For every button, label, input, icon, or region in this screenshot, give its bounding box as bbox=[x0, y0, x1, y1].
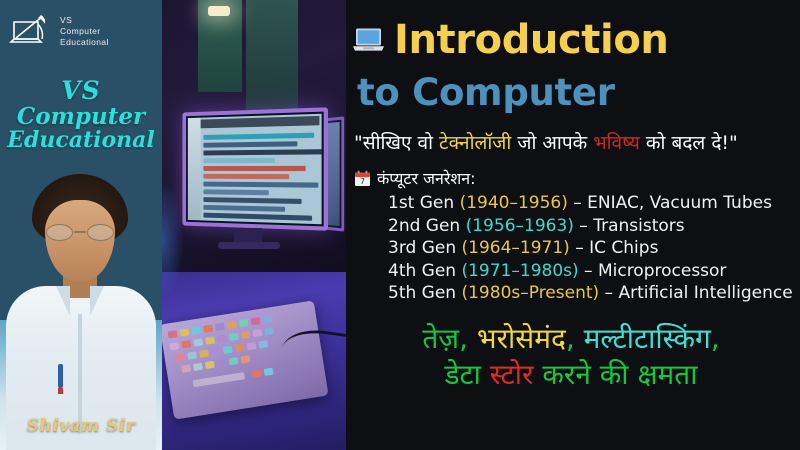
screen-row bbox=[203, 133, 314, 140]
tagline-highlight-technology: टेक्नोलॉजी bbox=[439, 132, 511, 154]
screen-row bbox=[203, 213, 312, 221]
generation-row: 1st Gen (1940–1956) – ENIAC, Vacuum Tube… bbox=[388, 192, 796, 215]
pocket-pen-icon bbox=[58, 364, 63, 388]
instructor-portrait bbox=[0, 168, 162, 450]
screen-row bbox=[203, 149, 321, 155]
screen-row bbox=[203, 205, 285, 212]
brand-script-wordmark: VS Computer Educational bbox=[0, 78, 162, 151]
laptop-outline-icon bbox=[8, 12, 54, 52]
brand-script-line3: Educational bbox=[0, 129, 162, 151]
generation-tech: ENIAC, Vacuum Tubes bbox=[587, 193, 772, 213]
screen-titlebar bbox=[201, 116, 320, 128]
generation-dash: – bbox=[570, 238, 589, 258]
generation-row: 3rd Gen (1964–1971) – IC Chips bbox=[388, 237, 796, 260]
glasses-bridge bbox=[74, 231, 86, 233]
generation-dash: – bbox=[568, 193, 587, 213]
tagline: "सीखिए वो टेक्नोलॉजी जो आपके भविष्य को ब… bbox=[354, 129, 796, 155]
photo-led-glow bbox=[162, 180, 184, 300]
generation-label: 4th Gen bbox=[388, 261, 461, 281]
screen-row bbox=[203, 182, 318, 188]
benefit-multitasking: मल्टीटास्किंग bbox=[584, 322, 711, 355]
benefit-data: डेटा bbox=[445, 358, 490, 391]
screen-row bbox=[203, 141, 297, 147]
generation-row: 4th Gen (1971–1980s) – Microprocessor bbox=[388, 260, 796, 283]
brand-logo-line1: VS bbox=[60, 15, 109, 26]
benefits-block: तेज़, भरोसेमंद, मल्टीटास्किंग, डेटा स्टो… bbox=[352, 321, 796, 393]
tagline-highlight-future: भविष्य bbox=[593, 132, 640, 154]
generation-label: 5th Gen bbox=[388, 283, 461, 303]
brand-script-line2: Computer bbox=[0, 105, 162, 128]
calendar-emoji-icon: 7 bbox=[354, 170, 371, 187]
generation-years: (1980s–Present) bbox=[461, 283, 599, 303]
pocket-pen-tip bbox=[58, 388, 63, 394]
generation-dash: – bbox=[599, 283, 618, 303]
generation-dash: – bbox=[579, 261, 598, 281]
brand-panel: VS Computer Educational VS Computer Educ… bbox=[0, 0, 162, 450]
slide-canvas: VS Computer Educational VS Computer Educ… bbox=[0, 0, 800, 450]
workstation-photo bbox=[162, 0, 346, 450]
brand-logo-line3: Educational bbox=[60, 37, 109, 48]
glasses-lens-right bbox=[87, 224, 114, 241]
glasses-lens-left bbox=[46, 224, 73, 241]
generation-years: (1971–1980s) bbox=[461, 261, 578, 281]
generation-row: 5th Gen (1980s–Present) – Artificial Int… bbox=[388, 282, 796, 305]
instructor-signature: Shivam Sir bbox=[0, 416, 162, 436]
portrait-collar-left bbox=[56, 286, 70, 316]
screen-row bbox=[203, 166, 305, 171]
benefit-store: स्टोर bbox=[490, 358, 534, 391]
benefit-comma-2: , bbox=[566, 322, 575, 355]
generation-tech: IC Chips bbox=[589, 238, 658, 258]
benefit-capacity: करने की क्षमता bbox=[533, 358, 697, 391]
generation-dash: – bbox=[574, 216, 593, 236]
monitor-icon bbox=[182, 107, 328, 230]
benefit-fast: तेज़ bbox=[422, 322, 459, 355]
generation-row: 2nd Gen (1956–1963) – Transistors bbox=[388, 215, 796, 238]
generation-tech: Artificial Intelligence bbox=[618, 283, 792, 303]
generation-years: (1940–1956) bbox=[460, 193, 568, 213]
generations-heading: कंप्यूटर जनरेशन: bbox=[377, 167, 476, 189]
tagline-part2: जो आपके bbox=[511, 132, 593, 154]
generation-years: (1956–1963) bbox=[466, 216, 574, 236]
brand-logo-line2: Computer bbox=[60, 26, 109, 37]
svg-text:7: 7 bbox=[360, 177, 365, 186]
generation-label: 3rd Gen bbox=[388, 238, 462, 258]
generation-years: (1964–1971) bbox=[462, 238, 570, 258]
title-introduction: Introduction bbox=[394, 20, 669, 60]
benefit-comma-1: , bbox=[459, 322, 468, 355]
generation-tech: Microprocessor bbox=[598, 261, 726, 281]
generations-list: 1st Gen (1940–1956) – ENIAC, Vacuum Tube… bbox=[388, 192, 796, 305]
lesson-content-panel: Introduction to Computer "सीखिए वो टेक्न… bbox=[346, 0, 800, 450]
screen-row bbox=[203, 174, 289, 179]
glasses-icon bbox=[44, 224, 116, 242]
generations-heading-row: 7 कंप्यूटर जनरेशन: bbox=[354, 167, 796, 189]
generation-label: 1st Gen bbox=[388, 193, 460, 213]
monitor-screen-content bbox=[188, 114, 322, 224]
slide-title-row: Introduction bbox=[352, 20, 796, 60]
photo-acoustic-panel-b bbox=[246, 0, 298, 120]
tagline-part1: "सीखिए वो bbox=[354, 132, 439, 154]
tagline-part3: को बदल दे!" bbox=[640, 132, 738, 154]
screen-row bbox=[203, 158, 274, 163]
screen-row bbox=[203, 189, 268, 195]
laptop-emoji-icon bbox=[352, 27, 385, 53]
screen-sidebar bbox=[188, 118, 201, 221]
screen-row bbox=[203, 197, 301, 204]
brand-logo: VS Computer Educational bbox=[8, 12, 156, 52]
generations-block: 7 कंप्यूटर जनरेशन: 1st Gen (1940–1956) –… bbox=[352, 167, 796, 305]
benefit-comma-3: , bbox=[711, 322, 720, 355]
benefit-reliable: भरोसेमंद bbox=[477, 322, 566, 355]
photo-ceiling-light bbox=[208, 6, 230, 16]
monitor-base bbox=[218, 242, 280, 249]
generation-tech: Transistors bbox=[593, 216, 684, 236]
title-to-computer: to Computer bbox=[357, 74, 796, 111]
portrait-collar-right bbox=[90, 286, 104, 316]
brand-script-line1: VS bbox=[0, 78, 162, 104]
generation-label: 2nd Gen bbox=[388, 216, 466, 236]
benefits-line-1: तेज़, भरोसेमंद, मल्टीटास्किंग, bbox=[352, 321, 790, 357]
benefits-line-2: डेटा स्टोर करने की क्षमता bbox=[352, 357, 790, 393]
brand-logo-text: VS Computer Educational bbox=[60, 12, 109, 49]
